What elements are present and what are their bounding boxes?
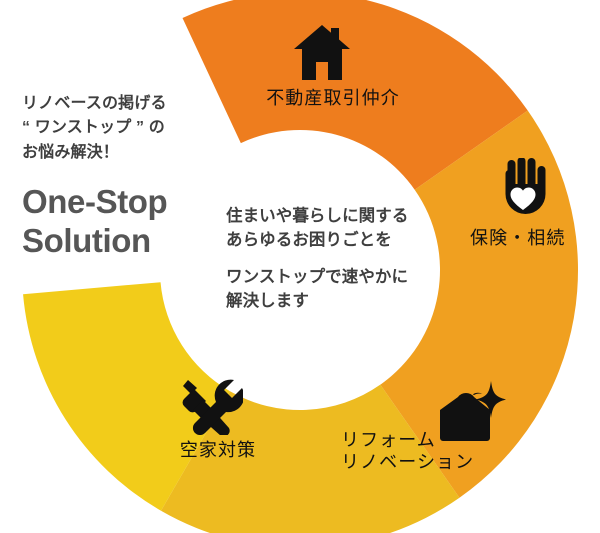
lead-copy: リノベースの掲げる “ ワンストップ ” の お悩み解決！ (22, 92, 232, 165)
segment-label-real-estate: 不動産取引仲介 (248, 88, 418, 110)
left-copy-block: リノベースの掲げる “ ワンストップ ” の お悩み解決！ One-Stop S… (22, 92, 232, 261)
page-title: One-Stop Solution (22, 183, 232, 261)
center-paragraph-2: ワンストップで速やかに 解決します (226, 266, 446, 314)
segment-label-vacant-house: 空家対策 (168, 440, 268, 462)
center-paragraph-1: 住まいや暮らしに関する あらゆるお困りごとを (226, 205, 446, 253)
house-icon (291, 24, 353, 82)
segment-label-reform: リフォーム リノベーション (341, 430, 509, 474)
center-copy-block: 住まいや暮らしに関する あらゆるお困りごとを ワンストップで速やかに 解決します (226, 205, 446, 314)
hammer-wrench-icon (177, 377, 243, 435)
infographic-canvas: 不動産取引仲介 保険・相続 リフォーム リノベーション 空家対策 リノベースの掲… (0, 0, 600, 533)
segment-label-insurance: 保険・相続 (470, 228, 594, 250)
hand-heart-icon (497, 158, 549, 220)
